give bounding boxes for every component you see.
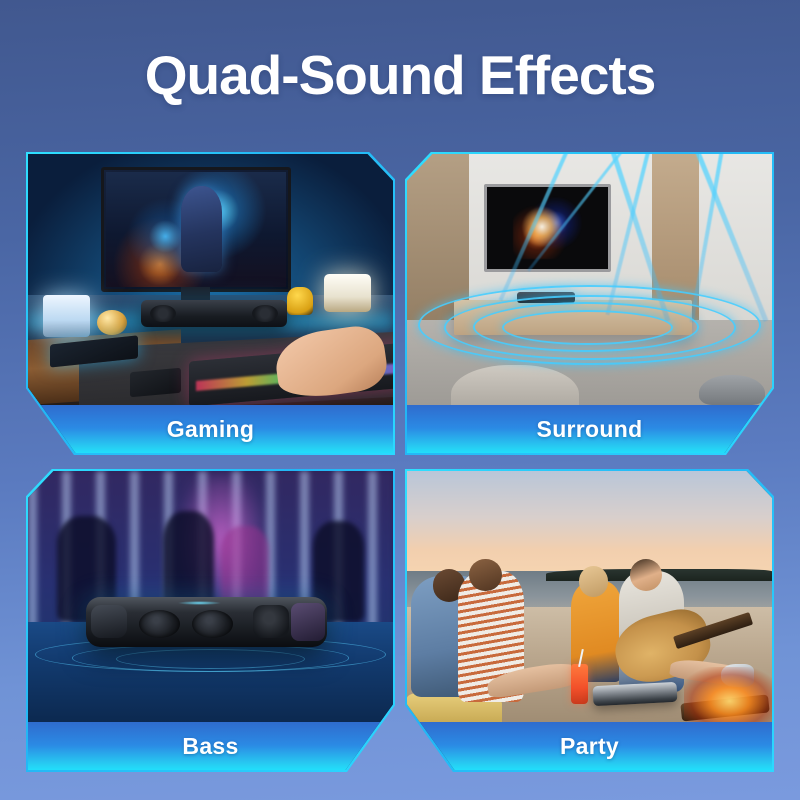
card-inner: Gaming <box>28 154 393 453</box>
speaker-end-cap <box>291 603 325 641</box>
card-inner: Party <box>407 471 772 770</box>
speaker-side-panel <box>91 605 127 638</box>
sound-wave-ring <box>502 310 674 345</box>
party-scene-image <box>407 471 772 722</box>
ottoman <box>699 375 765 405</box>
sunset-sky <box>407 471 772 581</box>
feature-card-grid: Gaming <box>26 152 774 772</box>
card-label-surround: Surround <box>537 416 643 443</box>
card-label-band-party: Party <box>407 722 772 770</box>
smartphone <box>130 368 181 398</box>
card-label-party: Party <box>560 733 619 760</box>
feature-card-gaming[interactable]: Gaming <box>26 152 395 455</box>
card-inner: Bass <box>28 471 393 770</box>
drink-bottle <box>571 664 587 704</box>
card-inner: Surround <box>407 154 772 453</box>
portable-speaker <box>86 597 327 647</box>
gaming-scene-image <box>28 154 393 405</box>
soundbar-speaker <box>141 300 287 328</box>
card-label-band-gaming: Gaming <box>28 405 393 453</box>
card-label-band-bass: Bass <box>28 722 393 770</box>
page-title: Quad-Sound Effects <box>145 43 656 107</box>
friend-head <box>579 566 608 596</box>
surround-scene-image <box>407 154 772 405</box>
decorative-orb <box>97 310 126 335</box>
card-label-band-surround: Surround <box>407 405 772 453</box>
ambient-lamp-right <box>324 274 371 312</box>
feature-card-bass[interactable]: Bass <box>26 469 395 772</box>
ambient-lamp-left <box>43 295 90 338</box>
speaker-led-indicator <box>178 601 221 605</box>
speaker-grille <box>253 605 289 638</box>
desk-figurine <box>287 287 313 315</box>
feature-card-party[interactable]: Party <box>405 469 774 772</box>
friend-head <box>469 559 502 592</box>
card-label-gaming: Gaming <box>167 416 254 443</box>
bass-scene-image <box>28 471 393 722</box>
card-label-bass: Bass <box>182 733 238 760</box>
bass-driver <box>192 610 233 638</box>
feature-card-surround[interactable]: Surround <box>405 152 774 455</box>
wizard-character <box>181 186 221 272</box>
bass-driver <box>139 610 180 638</box>
page-header: Quad-Sound Effects <box>0 0 800 150</box>
campfire-flames <box>684 667 772 722</box>
gaming-monitor <box>101 167 291 293</box>
